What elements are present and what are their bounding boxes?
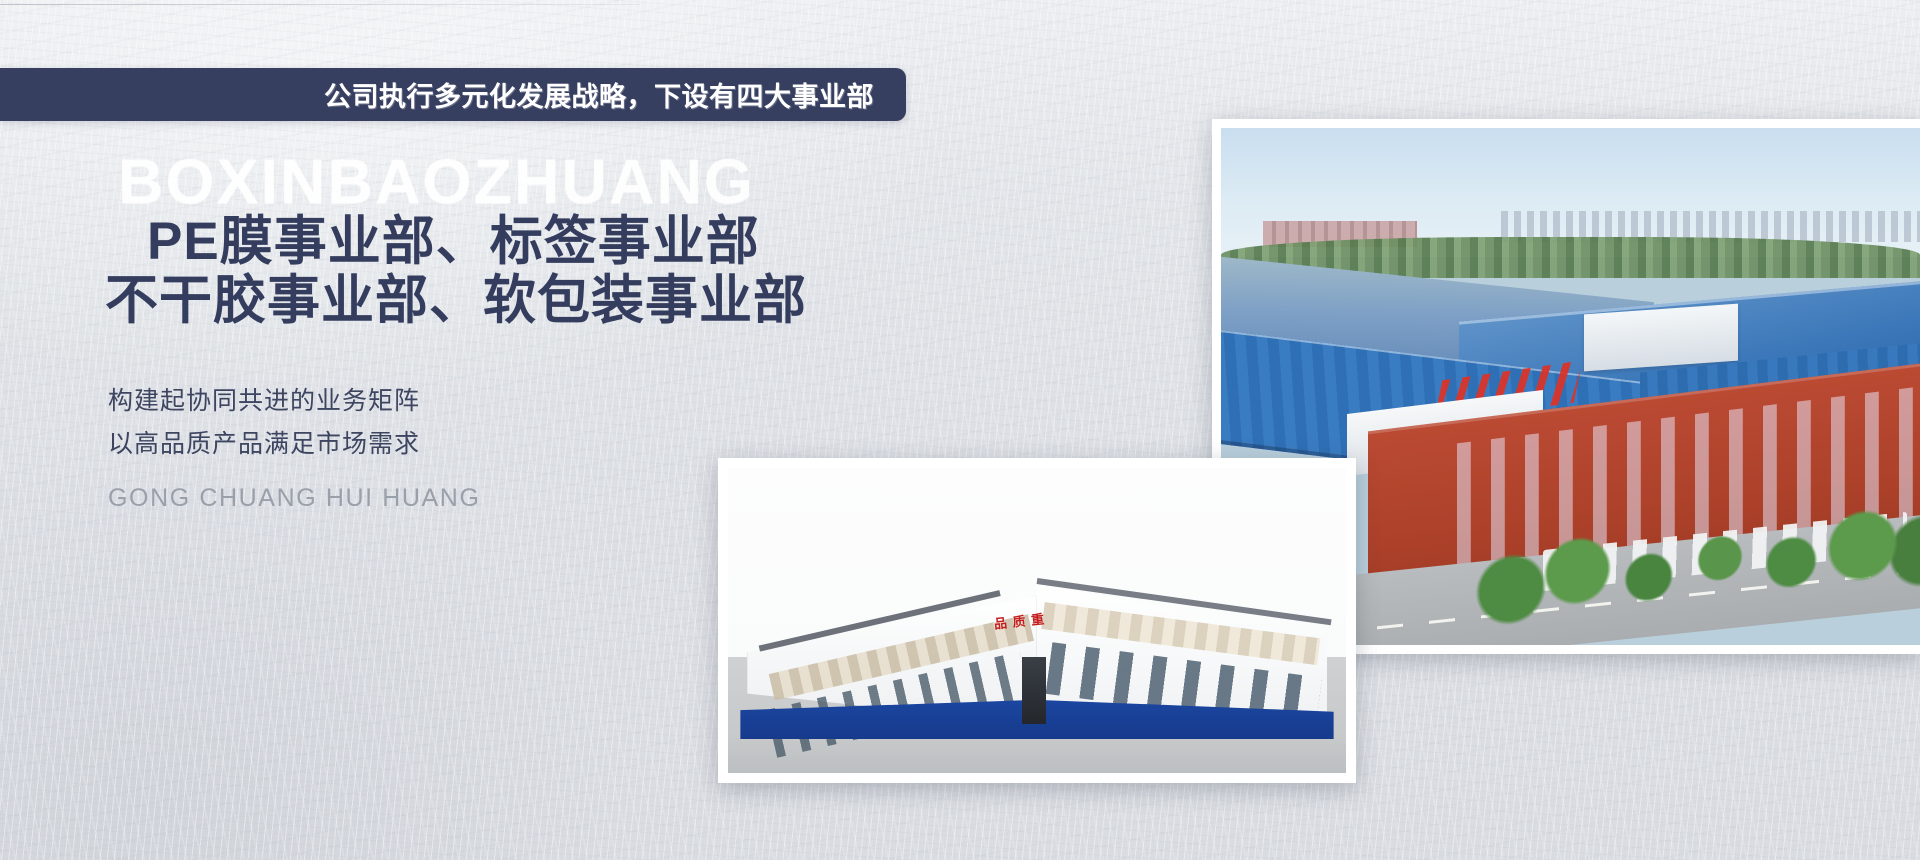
subcopy-line-2: 以高品质产品满足市场需求 [108, 423, 481, 466]
subcopy-pinyin: GONG CHUANG HUI HUANG [108, 484, 481, 513]
white-building-block [1584, 304, 1738, 372]
headline-block: PE膜事业部、标签事业部 不干胶事业部、软包装事业部 [105, 212, 807, 331]
headline-line-2: 不干胶事业部、软包装事业部 [105, 271, 807, 330]
section-title-bar: 公司执行多元化发展战略，下设有四大事业部 [0, 68, 906, 121]
factory-photo-art: 品 质 重 [728, 468, 1346, 773]
entrance-door [1022, 657, 1047, 724]
subcopy-block: 构建起协同共进的业务矩阵 以高品质产品满足市场需求 GONG CHUANG HU… [108, 380, 481, 513]
brand-watermark: BOXINBAOZHUANG [118, 146, 755, 218]
hero-banner-stage: 公司执行多元化发展战略，下设有四大事业部 BOXINBAOZHUANG PE膜事… [0, 0, 1920, 860]
factory-workshop-exterior-photo: 品 质 重 [718, 458, 1356, 783]
factory-photo-frame: 品 质 重 [728, 468, 1346, 773]
top-divider-line [0, 4, 640, 5]
headline-line-1: PE膜事业部、标签事业部 [105, 212, 807, 271]
subcopy-line-1: 构建起协同共进的业务矩阵 [108, 380, 481, 423]
section-title-text: 公司执行多元化发展战略，下设有四大事业部 [324, 75, 906, 114]
